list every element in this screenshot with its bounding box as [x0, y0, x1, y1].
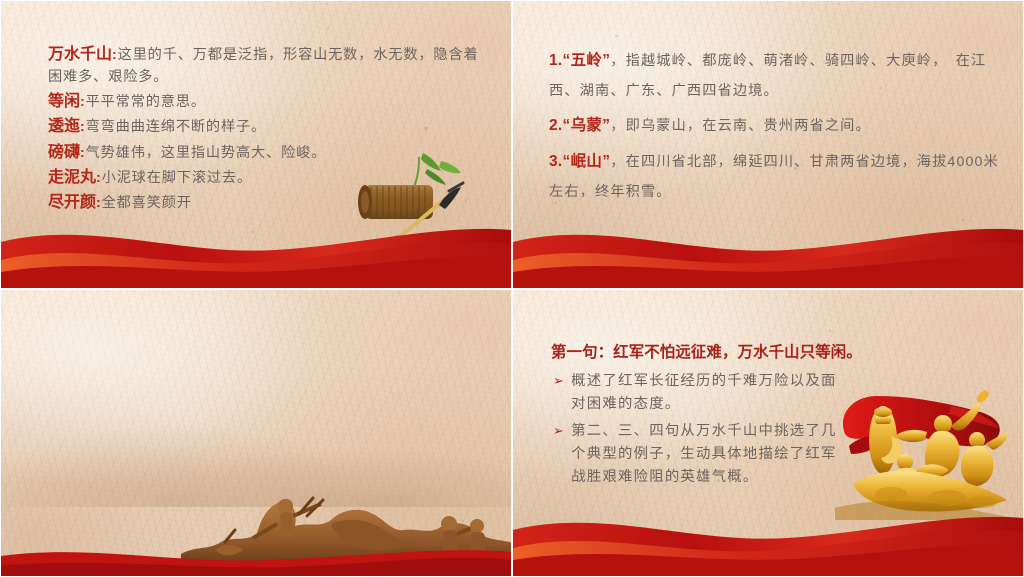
- link-item: 1.“五岭”，指越城岭、都庞岭、萌渚岭、骑四岭、大庾岭， 在江西、湖南、广东、广…: [549, 45, 1001, 106]
- link-item-head: 3.“岷山”: [549, 153, 610, 170]
- link-item-text: ，在四川省北部，绵延四川、甘肃两省边境，海拔4000米左右，终年积雪。: [549, 154, 999, 200]
- first-sentence-heading: 第一句：红军不怕远征难，万水千山只等闲。: [551, 340, 1009, 362]
- link-item: 3.“岷山”，在四川省北部，绵延四川、甘肃两省边境，海拔4000米左右，终年积雪…: [549, 146, 1001, 207]
- glossary-term: 尽开颜: [48, 194, 96, 211]
- arrow-bullet-icon: ➢: [553, 420, 565, 490]
- red-ribbon-wave-decoration: [513, 504, 1023, 576]
- glossary-term: 逶迤: [48, 118, 80, 135]
- glossary-text: 平平常常的意思。: [86, 94, 206, 110]
- slide-2-extra-links[interactable]: 课外链接 1.“五岭”，指越城岭、都庞岭、萌渚岭、骑四岭、大庾岭， 在江西、湖南…: [512, 0, 1024, 289]
- red-ribbon-wave-decoration: [513, 216, 1023, 288]
- glossary-text: 气势雄伟，这里指山势高大、险峻。: [86, 145, 327, 161]
- link-item-head: 1.“五岭”: [549, 52, 610, 69]
- link-item-text: ，指越城岭、都庞岭、萌渚岭、骑四岭、大庾岭， 在江西、湖南、广东、广西四省边境。: [549, 53, 986, 99]
- red-ribbon-wave-decoration: [1, 542, 511, 576]
- glossary-term: 磅礴: [48, 144, 80, 161]
- slide-3-section-cover[interactable]: 第三单元 诗歌赏析: [0, 289, 512, 577]
- red-ribbon-wave-decoration: [1, 216, 511, 288]
- glossary-term: 等闲: [48, 93, 80, 110]
- link-item-text: ，即乌蒙山，在云南、贵州两省之间。: [610, 118, 871, 134]
- glossary-item: 逶迤:弯弯曲曲连绵不断的样子。: [48, 115, 485, 139]
- slide-4-poem-analysis[interactable]: 诗歌赏析 第一句：红军不怕远征难，万水千山只等闲。 ➢ 概述了红军长征经历的千难…: [512, 289, 1024, 577]
- glossary-item: 等闲:平平常常的意思。: [48, 90, 485, 114]
- list-item-text: 第二、三、四句从万水千山中挑选了几个典型的例子，生动具体地描绘了红军战胜艰难险阻…: [571, 420, 843, 490]
- link-item: 2.“乌蒙”，即乌蒙山，在云南、贵州两省之间。: [549, 110, 1001, 142]
- golden-soldier-statue-icon: [831, 388, 1015, 520]
- slide-deck-grid: 七律·长征 万水千山:这里的千、万都是泛指，形容山无数，水无数，隐含着困难多、艰…: [0, 0, 1024, 577]
- glossary-term: 走泥丸: [48, 169, 96, 186]
- glossary-text: 全都喜笑颜开: [102, 195, 192, 211]
- slide-1-poem-glossary[interactable]: 七律·长征 万水千山:这里的千、万都是泛指，形容山无数，水无数，隐含着困难多、艰…: [0, 0, 512, 289]
- extra-links-list: 1.“五岭”，指越城岭、都庞岭、萌渚岭、骑四岭、大庾岭， 在江西、湖南、广东、广…: [549, 45, 1001, 211]
- list-item: ➢ 概述了红军长征经历的千难万险以及面对困难的态度。: [553, 370, 843, 417]
- link-item-head: 2.“乌蒙”: [549, 117, 610, 134]
- glossary-term: 万水千山: [48, 46, 112, 63]
- arrow-bullet-icon: ➢: [553, 370, 565, 417]
- glossary-item: 万水千山:这里的千、万都是泛指，形容山无数，水无数，隐含着困难多、艰险多。: [48, 43, 485, 89]
- glossary-text: 小泥球在脚下滚过去。: [102, 170, 252, 186]
- analysis-bullet-list: ➢ 概述了红军长征经历的千难万险以及面对困难的态度。 ➢ 第二、三、四句从万水千…: [553, 370, 843, 493]
- list-item-text: 概述了红军长征经历的千难万险以及面对困难的态度。: [571, 370, 843, 417]
- glossary-text: 弯弯曲曲连绵不断的样子。: [86, 119, 266, 135]
- list-item: ➢ 第二、三、四句从万水千山中挑选了几个典型的例子，生动具体地描绘了红军战胜艰难…: [553, 420, 843, 490]
